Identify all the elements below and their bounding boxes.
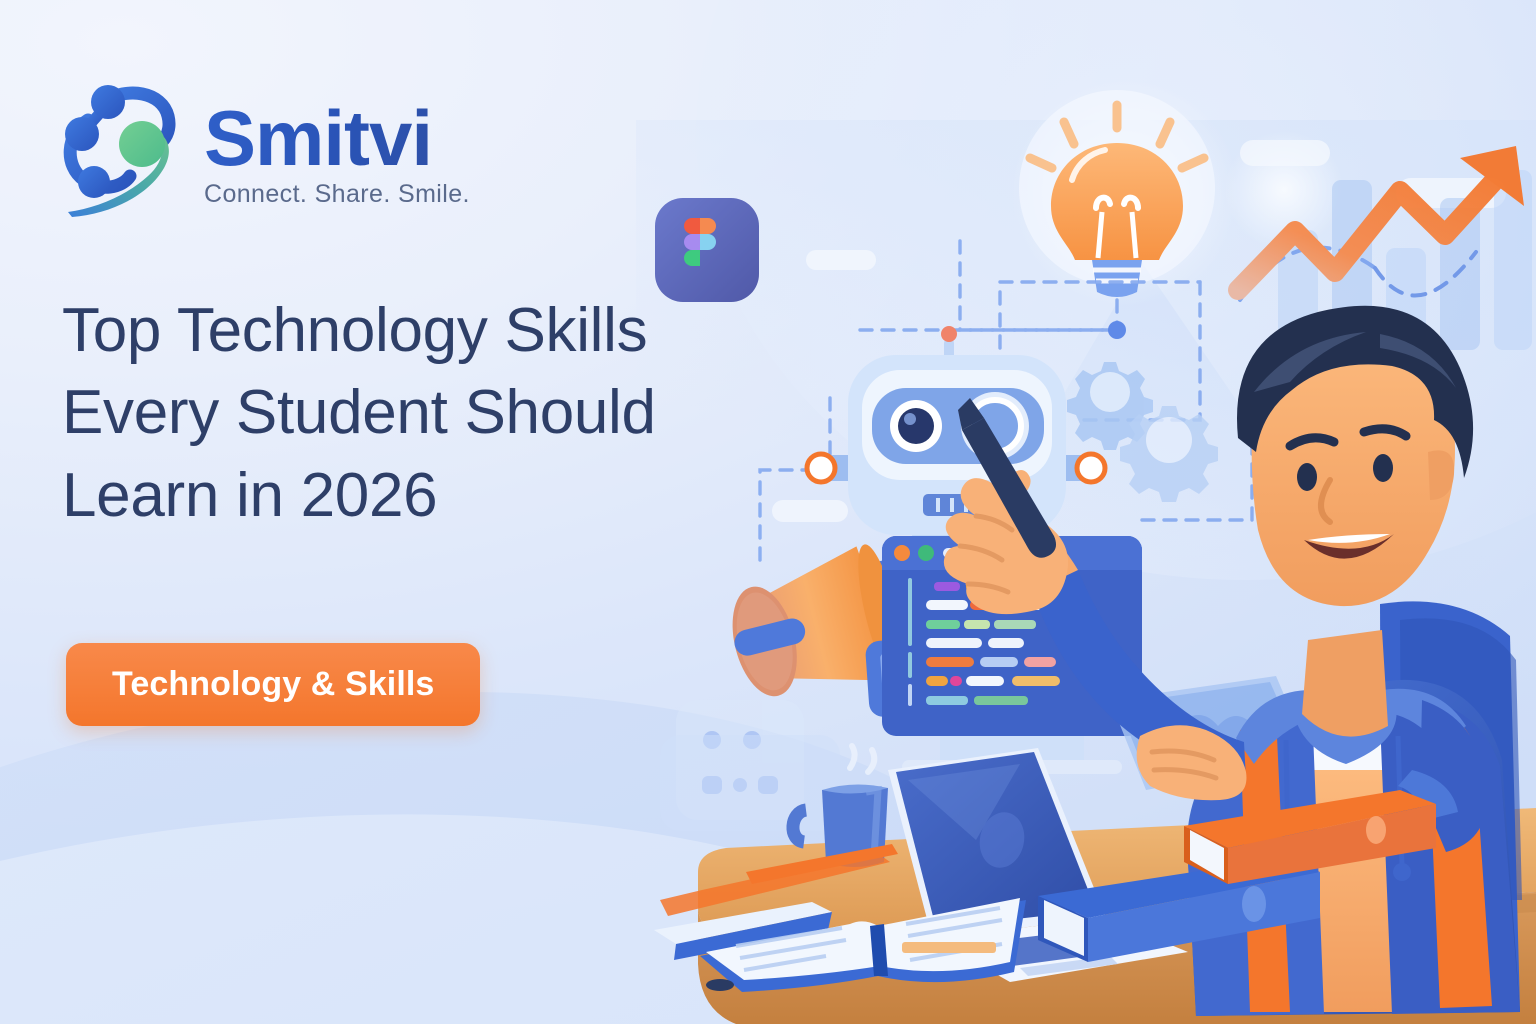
network-nodes-swoosh-logo-icon bbox=[56, 80, 196, 230]
window-dot-green bbox=[918, 545, 934, 561]
lightbulb-icon bbox=[1019, 90, 1215, 297]
connector-node bbox=[1108, 321, 1126, 339]
brand-logo[interactable]: Smitvi Connect. Share. Smile. bbox=[56, 80, 470, 230]
figma-logo-icon bbox=[655, 198, 759, 302]
brand-name: Smitvi bbox=[204, 101, 470, 175]
category-badge[interactable]: Technology & Skills bbox=[66, 643, 480, 726]
gear-icon bbox=[1120, 406, 1218, 502]
window-dot-orange bbox=[894, 545, 910, 561]
banner: Smitvi Connect. Share. Smile. Top Techno… bbox=[0, 0, 1536, 1024]
brand-tagline: Connect. Share. Smile. bbox=[204, 180, 470, 209]
hero-illustration bbox=[640, 0, 1536, 1024]
